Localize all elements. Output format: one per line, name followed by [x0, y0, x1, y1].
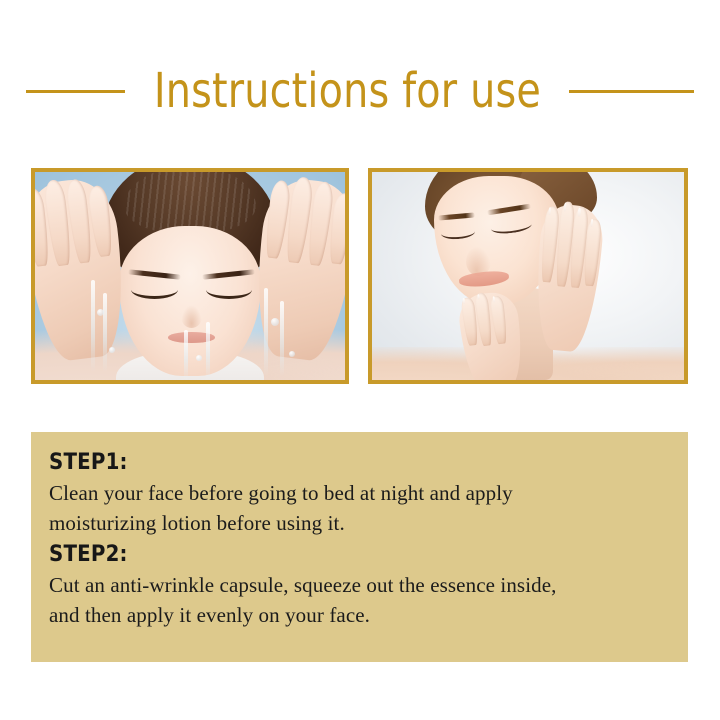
- title-rule-right: [569, 90, 694, 93]
- water-droplet-shape: [271, 318, 279, 326]
- nose-shape: [181, 305, 203, 328]
- fingernail-shape: [463, 298, 466, 304]
- water-stream-shape: [103, 293, 107, 372]
- photo-cleansing-image: [35, 172, 345, 380]
- water-stream-shape: [264, 288, 268, 375]
- photo-moisturizing-image: [372, 172, 684, 380]
- fingernail-shape: [578, 208, 581, 217]
- instructions-content: STEP1: Clean your face before going to b…: [49, 448, 670, 632]
- water-stream-shape: [206, 322, 210, 380]
- water-stream-shape: [280, 301, 284, 376]
- step-2-line-1: Cut an anti-wrinkle capsule, squeeze out…: [49, 570, 670, 600]
- page-title: Instructions for use: [153, 67, 540, 115]
- photo-frame-moisturizing: [368, 168, 688, 384]
- fingernail-shape: [493, 296, 496, 302]
- fingernail-shape: [477, 293, 480, 299]
- page-header: Instructions for use: [0, 60, 720, 122]
- fingernail-shape: [548, 207, 551, 216]
- instructions-panel: STEP1: Clean your face before going to b…: [31, 432, 688, 662]
- step-1-label: STEP1:: [49, 448, 670, 478]
- fingernail-shape: [591, 219, 594, 227]
- water-stream-shape: [184, 330, 188, 380]
- step-1-line-2: moisturizing lotion before using it.: [49, 508, 670, 538]
- water-stream-shape: [91, 280, 95, 372]
- step-2-label: STEP2:: [49, 540, 670, 570]
- photo-frame-cleansing: [31, 168, 349, 384]
- step-block-1: STEP1: Clean your face before going to b…: [49, 448, 670, 538]
- finger-shape: [490, 295, 509, 344]
- title-rule-left: [26, 90, 125, 93]
- step-1-line-1: Clean your face before going to bed at n…: [49, 478, 670, 508]
- step-2-line-2: and then apply it evenly on your face.: [49, 600, 670, 630]
- step-block-2: STEP2: Cut an anti-wrinkle capsule, sque…: [49, 540, 670, 630]
- fingernail-shape: [564, 203, 568, 212]
